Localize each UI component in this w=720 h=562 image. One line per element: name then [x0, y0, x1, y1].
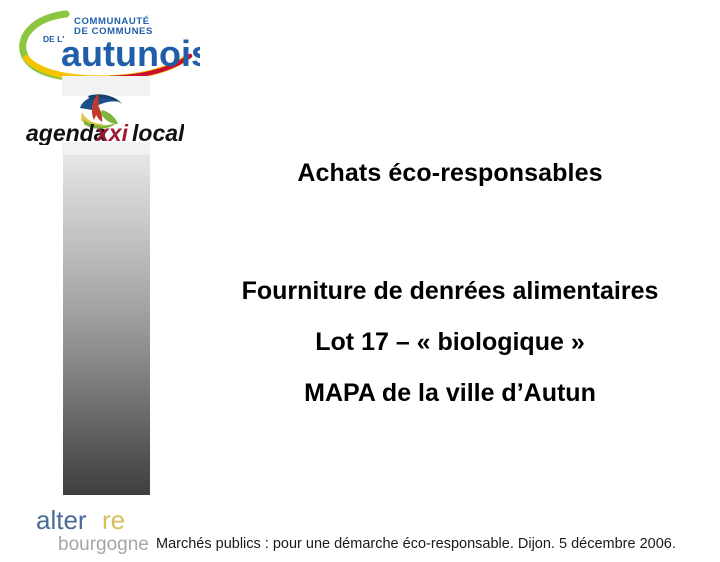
agenda21-local-logo: agenda xxi local [24, 90, 184, 145]
vertical-gradient-bar [63, 155, 150, 495]
slide-subtitle-line-1: Fourniture de denrées alimentaires [180, 266, 720, 317]
logo-wordmark-text: autunois [61, 33, 200, 74]
slide-title: Achats éco-responsables [180, 159, 720, 188]
alterre-part1: alter [36, 505, 87, 535]
communaute-de-communes-logo: DE L' COMMUNAUTÉ DE COMMUNES autunois [14, 8, 200, 80]
alterre-part2: re [102, 505, 125, 535]
slide-subtitle-block: Fourniture de denrées alimentaires Lot 1… [180, 266, 720, 419]
presentation-slide: DE L' COMMUNAUTÉ DE COMMUNES autunois ag… [0, 0, 720, 562]
slide-subtitle-line-3: MAPA de la ville d’Autun [180, 368, 720, 419]
alterre-part3: bourgogne [58, 534, 149, 555]
decor-band-lower [62, 142, 150, 156]
slide-footer: Marchés publics : pour une démarche éco-… [156, 536, 712, 552]
alterre-bourgogne-logo: alter re bourgogne [34, 505, 164, 555]
slide-subtitle-line-2: Lot 17 – « biologique » [180, 317, 720, 368]
